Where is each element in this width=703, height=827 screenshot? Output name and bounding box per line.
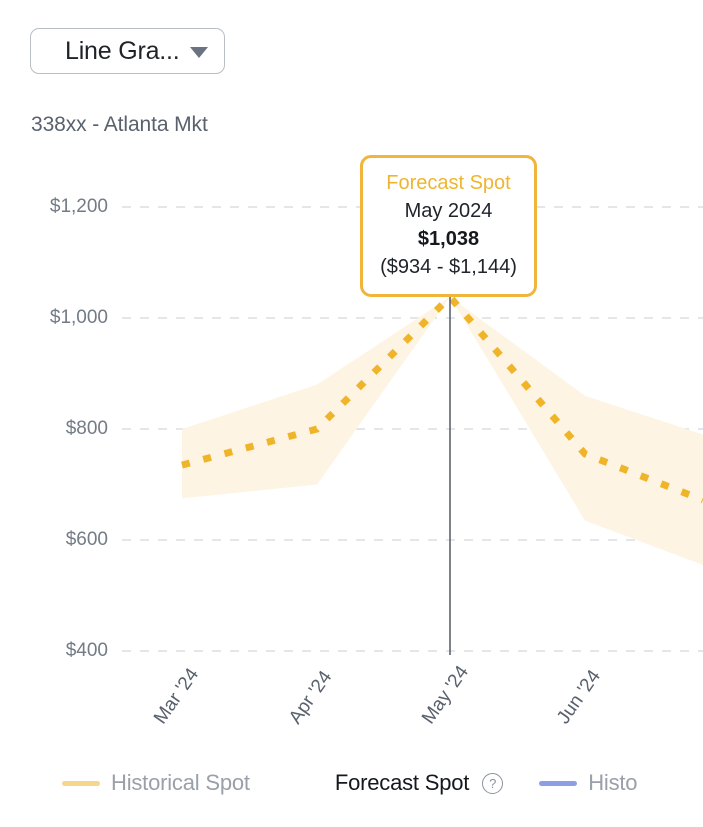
line-chart: $1,200$1,000$800$600$400 Mar '24Apr '24M… — [0, 0, 703, 760]
legend-swatch — [62, 781, 100, 786]
y-axis-tick-label: $400 — [66, 640, 108, 662]
legend-label: Forecast Spot — [335, 770, 469, 796]
y-axis-tick-label: $1,000 — [50, 307, 108, 329]
tooltip-series-name: Forecast Spot — [373, 170, 524, 197]
legend-swatch — [539, 781, 577, 786]
legend-item[interactable]: Historical Spot — [62, 770, 250, 796]
chart-legend: Historical SpotForecast Spot?Histo — [0, 762, 703, 804]
y-axis-tick-label: $800 — [66, 418, 108, 440]
forecast-tooltip: Forecast Spot May 2024 $1,038 ($934 - $1… — [360, 155, 537, 297]
confidence-band — [182, 297, 703, 565]
help-circle-icon[interactable]: ? — [482, 773, 503, 794]
legend-item[interactable]: Histo — [539, 770, 637, 796]
legend-label: Histo — [588, 770, 637, 796]
y-axis-tick-label: $1,200 — [50, 196, 108, 218]
confidence-band-area — [182, 297, 703, 565]
legend-swatch — [286, 780, 324, 786]
tooltip-period: May 2024 — [373, 197, 524, 225]
y-axis-tick-label: $600 — [66, 529, 108, 551]
tooltip-value: $1,038 — [373, 225, 524, 253]
legend-item[interactable]: Forecast Spot? — [286, 770, 503, 796]
legend-label: Historical Spot — [111, 770, 250, 796]
tooltip-range: ($934 - $1,144) — [373, 253, 524, 281]
